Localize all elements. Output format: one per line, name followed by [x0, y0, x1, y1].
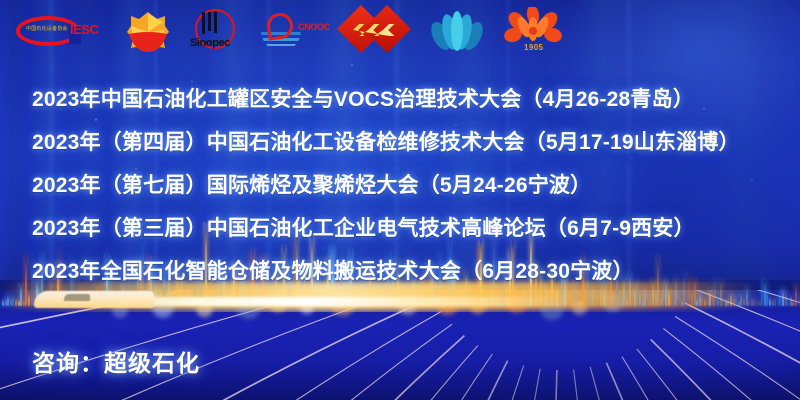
kailuan-year-wordmark: 1905 — [524, 43, 543, 52]
conference-title: 2023年（第七届）国际烯烃及聚烯烃大会（5月24-26宁波） — [32, 169, 591, 199]
conference-row[interactable]: 2023年（第三届）中国石油化工企业电气技术高峰论坛（6月7-9西安） — [32, 205, 772, 248]
conference-title: 2023年（第三届）中国石油化工企业电气技术高峰论坛（6月7-9西安） — [32, 212, 695, 242]
conference-title: 2023年中国石油化工罐区安全与VOCS治理技术大会（4月26-28青岛） — [32, 83, 694, 113]
cnbm-petal-logo[interactable] — [424, 7, 490, 55]
conference-list: 2023年中国石油化工罐区安全与VOCS治理技术大会（4月26-28青岛） 20… — [32, 76, 772, 291]
iesc-wordmark: IESC — [70, 22, 98, 37]
cnooc-wordmark: CNOOC — [298, 22, 330, 32]
curve-line — [685, 303, 800, 400]
iesc-logo[interactable]: 中国石化设备协会 IESC — [14, 7, 110, 55]
curve-line — [362, 366, 524, 400]
cnooc-logo[interactable]: CNOOC — [258, 7, 330, 55]
sinopec-bars-icon — [202, 12, 222, 34]
curve-line — [543, 370, 557, 400]
conference-row[interactable]: 2023年中国石油化工罐区安全与VOCS治理技术大会（4月26-28青岛） — [32, 76, 772, 119]
conference-title: 2023年全国石化智能仓储及物料搬运技术大会（6月28-30宁波） — [32, 255, 634, 285]
petrochina-logo[interactable] — [120, 7, 176, 55]
iesc-chinese-text: 中国石化设备协会 — [26, 25, 68, 32]
conference-title: 2023年（第四届）中国石油化工设备检维修技术大会（5月17-19山东淄博） — [32, 126, 740, 156]
petrochina-sun-icon — [125, 10, 171, 54]
sinopec-wordmark: Sinopec — [190, 37, 230, 49]
conference-row[interactable]: 2023年（第七届）国际烯烃及聚烯烃大会（5月24-26宁波） — [32, 162, 772, 205]
promo-banner: 中国石化设备协会 IESC Sinopec C — [0, 0, 800, 400]
sinopec-logo[interactable]: Sinopec — [186, 7, 248, 55]
contact-cta-label: 咨询：超级石化 — [32, 350, 200, 376]
conference-row[interactable]: 2023年（第四届）中国石油化工设备检维修技术大会（5月17-19山东淄博） — [32, 119, 772, 162]
curve-line — [637, 349, 800, 400]
sponsor-logo-row: 中国石化设备协会 IESC Sinopec C — [0, 0, 800, 62]
curve-line — [275, 361, 508, 400]
curve-line — [606, 363, 800, 400]
sinochem-logo[interactable] — [340, 7, 414, 55]
curve-line — [663, 329, 800, 400]
conference-row[interactable]: 2023年全国石化智能仓储及物料搬运技术大会（6月28-30宁波） — [32, 248, 772, 291]
kailuan-1905-logo[interactable]: 1905 — [500, 7, 570, 55]
contact-cta[interactable]: 咨询：超级石化 — [32, 344, 200, 378]
curve-line — [574, 369, 635, 400]
petal-flower-icon — [430, 10, 484, 54]
speeding-vehicle-graphic — [34, 291, 154, 308]
